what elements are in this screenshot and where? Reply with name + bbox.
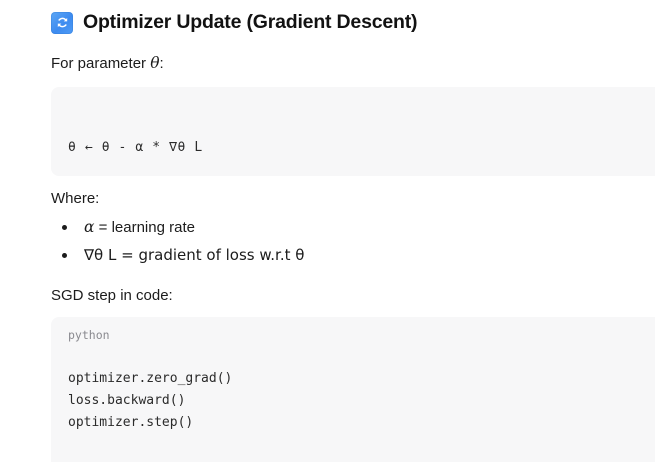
code-body: optimizer.zero_grad() loss.backward() op…	[68, 368, 232, 434]
code-line: loss.backward()	[68, 390, 232, 412]
where-label: Where:	[51, 189, 99, 208]
bullet-dot-icon	[62, 225, 67, 230]
definition-list: α = learning rate ∇θ L = gradient of los…	[51, 213, 304, 269]
math-expression: θ ← θ - α * ∇θ L	[68, 137, 203, 159]
math-code-block: θ ← θ - α * ∇θ L	[51, 87, 655, 176]
intro-suffix: :	[160, 55, 164, 72]
intro-paragraph: For parameter θ:	[51, 54, 164, 73]
gradient-definition: = gradient of loss w.r.t θ	[116, 246, 304, 264]
gradient-symbol: ∇θ L	[84, 246, 116, 264]
alpha-definition: = learning rate	[94, 219, 194, 236]
intro-theta-symbol: θ	[150, 54, 159, 72]
refresh-sync-icon	[51, 12, 73, 34]
code-language-label: python	[68, 328, 110, 342]
code-line: optimizer.step()	[68, 412, 232, 434]
document-page: Optimizer Update (Gradient Descent) For …	[0, 0, 655, 462]
alpha-symbol: α	[84, 218, 94, 236]
python-code-block: python optimizer.zero_grad() loss.backwa…	[51, 317, 655, 462]
code-section-label: SGD step in code:	[51, 286, 173, 305]
intro-prefix: For parameter	[51, 55, 150, 72]
page-heading: Optimizer Update (Gradient Descent)	[51, 11, 417, 34]
heading-title: Optimizer Update (Gradient Descent)	[83, 11, 417, 34]
list-item: α = learning rate	[51, 213, 304, 241]
bullet-dot-icon	[62, 253, 67, 258]
list-item: ∇θ L = gradient of loss w.r.t θ	[51, 241, 304, 269]
code-line: optimizer.zero_grad()	[68, 368, 232, 390]
